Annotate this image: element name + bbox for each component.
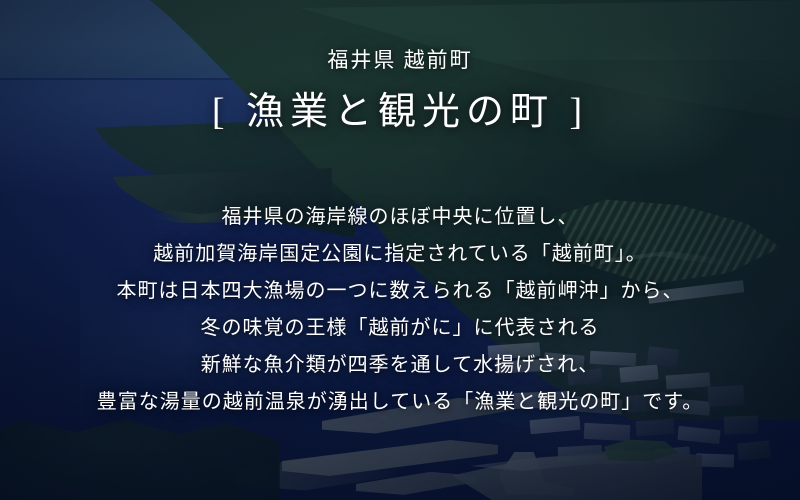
description-line: 本町は日本四大漁場の一つに数えられる「越前岬沖」から、 [97,273,703,310]
location-subtitle: 福井県 越前町 [327,50,472,71]
page-title: [ 漁業と観光の町 ] [212,93,588,131]
hero-content: 福井県 越前町 [ 漁業と観光の町 ] 福井県の海岸線のほぼ中央に位置し、 越前… [0,0,800,500]
description-line: 福井県の海岸線のほぼ中央に位置し、 [97,199,703,236]
description-block: 福井県の海岸線のほぼ中央に位置し、 越前加賀海岸国定公園に指定されている「越前町… [97,199,703,421]
description-line: 越前加賀海岸国定公園に指定されている「越前町」。 [97,236,703,273]
hero-banner: 福井県 越前町 [ 漁業と観光の町 ] 福井県の海岸線のほぼ中央に位置し、 越前… [0,0,800,500]
description-line: 新鮮な魚介類が四季を通して水揚げされ、 [97,347,703,384]
description-line: 豊富な湯量の越前温泉が湧出している「漁業と観光の町」です。 [97,384,703,421]
description-line: 冬の味覚の王様「越前がに」に代表される [97,310,703,347]
